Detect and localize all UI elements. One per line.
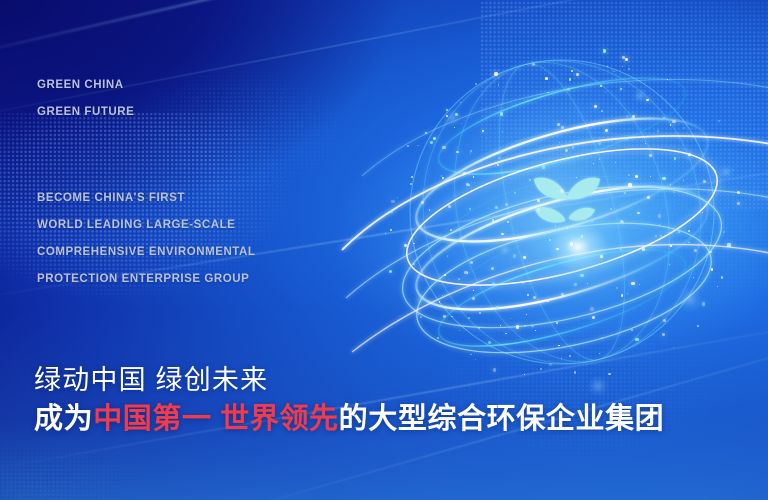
slogan-english-mid: BECOME CHINA'S FIRST WORLD LEADING LARGE… <box>37 185 255 293</box>
headline-highlight: 中国第一 世界领先 <box>93 403 338 435</box>
headline-line-1: 绿动中国 绿创未来 <box>34 362 664 398</box>
headline-prefix: 成为 <box>34 403 93 435</box>
slogan-line: WORLD LEADING LARGE-SCALE <box>37 212 255 239</box>
slogan-line: BECOME CHINA'S FIRST <box>37 185 255 212</box>
sprout-icon <box>527 163 607 258</box>
headline-suffix: 的大型综合环保企业集团 <box>339 403 665 435</box>
slogan-line: PROTECTION ENTERPRISE GROUP <box>37 266 255 293</box>
slogan-line: GREEN CHINA <box>37 72 134 99</box>
hero-banner: GREEN CHINA GREEN FUTURE BECOME CHINA'S … <box>0 0 768 500</box>
slogan-english-top: GREEN CHINA GREEN FUTURE <box>37 72 134 126</box>
slogan-line: COMPREHENSIVE ENVIRONMENTAL <box>37 239 255 266</box>
halftone-dot-map-top-left-2 <box>120 70 360 190</box>
slogan-line: GREEN FUTURE <box>37 99 134 126</box>
headline-chinese: 绿动中国 绿创未来 成为中国第一 世界领先的大型综合环保企业集团 <box>34 362 664 440</box>
headline-line-2: 成为中国第一 世界领先的大型综合环保企业集团 <box>34 398 664 440</box>
